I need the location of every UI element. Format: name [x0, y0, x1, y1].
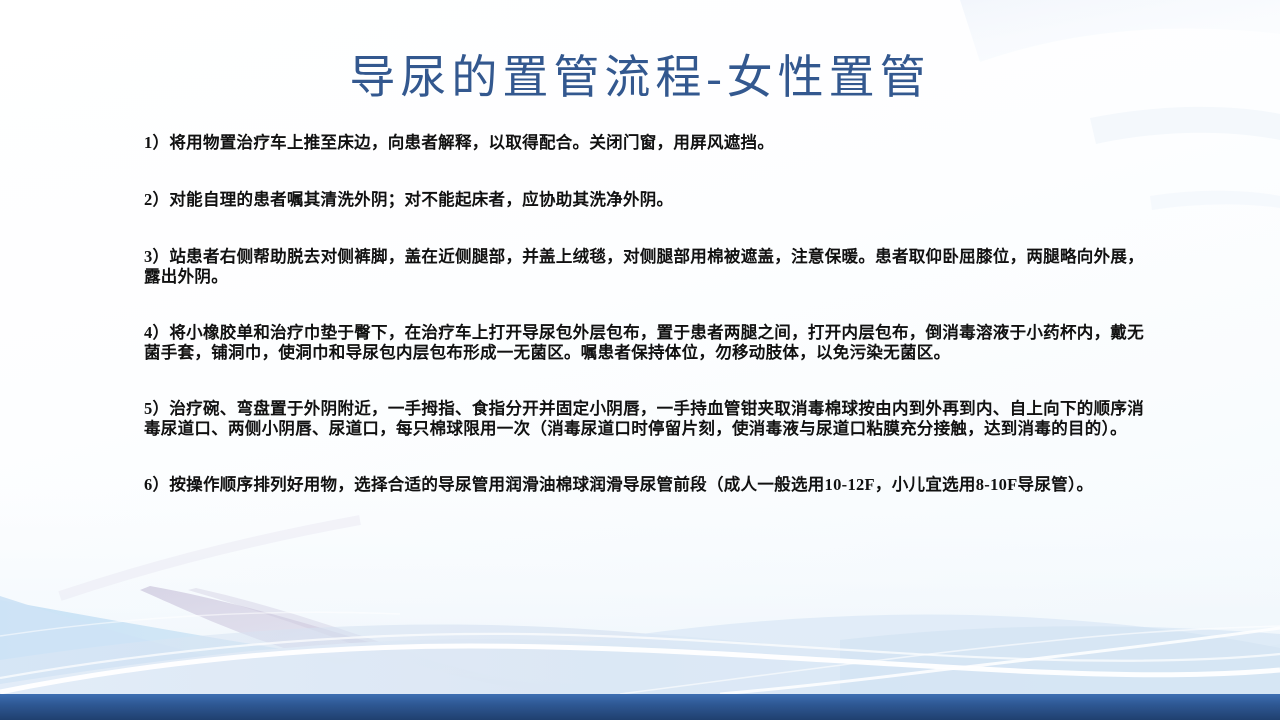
- slide-body-content: 1）将用物置治疗车上推至床边，向患者解释，以取得配合。关闭门窗，用屏风遮挡。 2…: [144, 133, 1144, 495]
- step-paragraph-2: 2）对能自理的患者嘱其清洗外阴；对不能起床者，应协助其洗净外阴。: [144, 190, 1144, 210]
- page-title: 导尿的置管流程-女性置管: [349, 49, 930, 107]
- step-paragraph-3: 3）站患者右侧帮助脱去对侧裤脚，盖在近侧腿部，并盖上绒毯，对侧腿部用棉被遮盖，注…: [144, 247, 1144, 287]
- step-paragraph-4: 4）将小橡胶单和治疗巾垫于臀下，在治疗车上打开导尿包外层包布，置于患者两腿之间，…: [144, 323, 1144, 363]
- step-paragraph-5: 5）治疗碗、弯盘置于外阴附近，一手拇指、食指分开并固定小阴唇，一手持血管钳夹取消…: [144, 399, 1144, 439]
- step-paragraph-6: 6）按操作顺序排列好用物，选择合适的导尿管用润滑油棉球润滑导尿管前段（成人一般选…: [144, 475, 1144, 495]
- bottom-accent-bar: [0, 694, 1280, 720]
- slide-title-container: 导尿的置管流程-女性置管: [0, 18, 1280, 137]
- presentation-slide: 导尿的置管流程-女性置管 1）将用物置治疗车上推至床边，向患者解释，以取得配合。…: [0, 0, 1280, 720]
